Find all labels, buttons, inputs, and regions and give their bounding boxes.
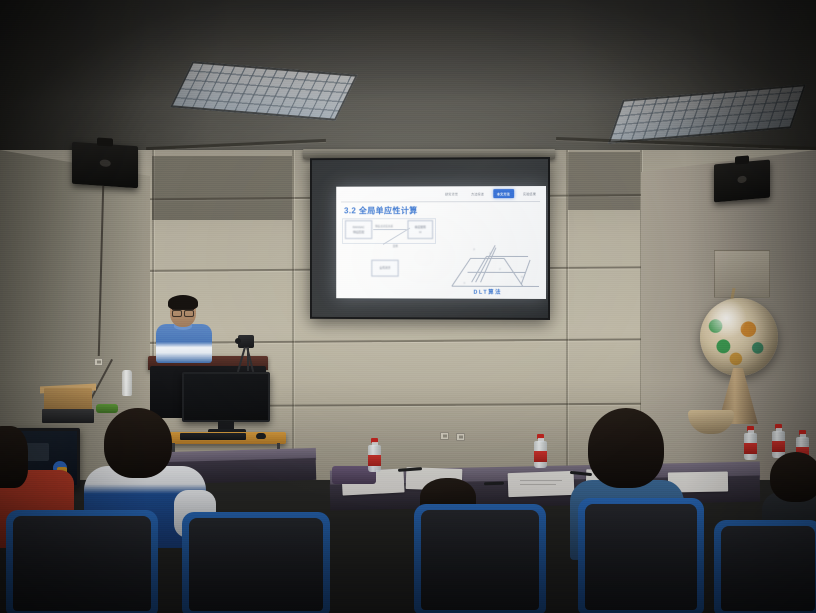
wall-electrical-panel <box>714 250 770 298</box>
water-bottle-1[interactable] <box>368 438 381 472</box>
water-bottle-2[interactable] <box>534 434 547 468</box>
slide-divider <box>341 201 540 202</box>
geo-point-label-4: H <box>521 276 523 279</box>
geo-point-label-3: x' <box>499 268 501 271</box>
wall-outlet-left[interactable] <box>94 358 103 366</box>
wall-panel-dark-left <box>152 156 292 220</box>
glasses-icon <box>172 309 194 314</box>
slide-nav-tab-3[interactable]: 实验结果 <box>519 189 540 198</box>
slide-nav-bar: 研究背景 方法综述 本文方法 实验结果 <box>336 186 546 200</box>
wall-outlet-center-2[interactable] <box>456 433 465 441</box>
handout-3-textline-2 <box>520 484 556 485</box>
diagram-caption: DLT算法 <box>473 288 502 296</box>
geo-point-label-2: x <box>478 274 479 277</box>
wall-outlet-center-1[interactable] <box>440 432 449 440</box>
flowchart-box-input: RANSAC 特征匹配 <box>345 220 372 239</box>
geo-point-label-0: p <box>473 248 474 251</box>
slide-title: 3.2 全局单应性计算 <box>344 204 418 216</box>
geo-ray-2 <box>480 247 496 282</box>
audience-blue-shirt-head <box>588 408 664 488</box>
presenter-hair <box>168 295 198 310</box>
foreground-shadow <box>0 493 816 613</box>
wall-speaker-left <box>72 142 138 189</box>
slide-nav-tab-2[interactable]: 本文方法 <box>493 189 514 198</box>
tripod-leg-3 <box>247 347 249 371</box>
geo-plane-b-2 <box>486 256 528 257</box>
slide-nav-tab-0[interactable]: 研究背景 <box>441 189 462 198</box>
flowchart-edge-diagonal-label: 变换 <box>393 244 398 248</box>
flowchart-edge-top-label: 特征点对应关系 <box>375 224 393 228</box>
water-bottle-3[interactable] <box>744 426 757 460</box>
audience-blue-vest-head <box>104 408 172 478</box>
presentation-slide: 研究背景 方法综述 本文方法 实验结果 3.2 全局单应性计算 RANSAC 特… <box>336 186 546 299</box>
geo-point-label-5: π <box>464 282 466 285</box>
slide-nav-tab-1[interactable]: 方法综述 <box>467 189 488 198</box>
geo-plane-b-1 <box>471 256 486 282</box>
handout-3-textline-1 <box>520 480 562 481</box>
floor-bottle <box>122 370 132 396</box>
pull-down-projection-screen[interactable]: 研究背景 方法综述 本文方法 实验结果 3.2 全局单应性计算 RANSAC 特… <box>310 157 550 320</box>
flowchart-box-output: 全局对齐 <box>371 260 398 277</box>
lecture-room-photo: 研究背景 方法综述 本文方法 实验结果 3.2 全局单应性计算 RANSAC 特… <box>0 0 816 613</box>
wall-speaker-right <box>714 160 770 203</box>
geo-baseline <box>452 286 539 287</box>
presenter-at-lectern <box>156 297 212 363</box>
terrestrial-globe[interactable] <box>700 298 778 376</box>
flowchart-box-model: 单应矩阵 H <box>407 220 433 239</box>
wall-vseam-2 <box>292 150 294 480</box>
flowchart-edge-top <box>373 229 406 230</box>
mouse[interactable] <box>256 433 266 439</box>
geo-point-label-1: q <box>489 252 490 255</box>
geo-cross-1 <box>468 272 526 273</box>
wall-panel-dark-right <box>568 152 640 210</box>
audience-red-jacket-head <box>0 426 28 488</box>
